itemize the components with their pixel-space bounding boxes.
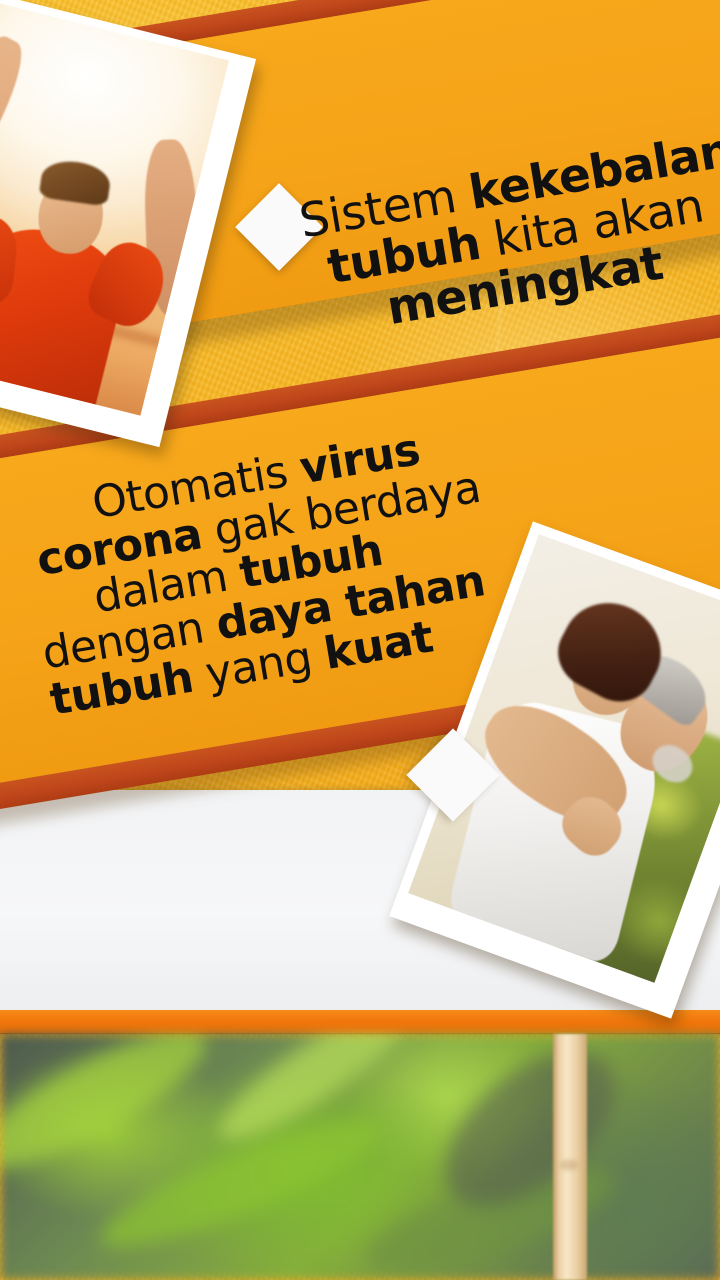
photo1-left-arm [0, 27, 37, 254]
poster-canvas: bikin... [0, 0, 720, 1280]
bamboo-stick-knot [560, 1160, 578, 1170]
foliage-bokeh-image [0, 1034, 720, 1280]
orange-divider-bar [0, 1010, 720, 1034]
bamboo-stick [553, 1034, 587, 1280]
leaf-blade [0, 1034, 221, 1191]
